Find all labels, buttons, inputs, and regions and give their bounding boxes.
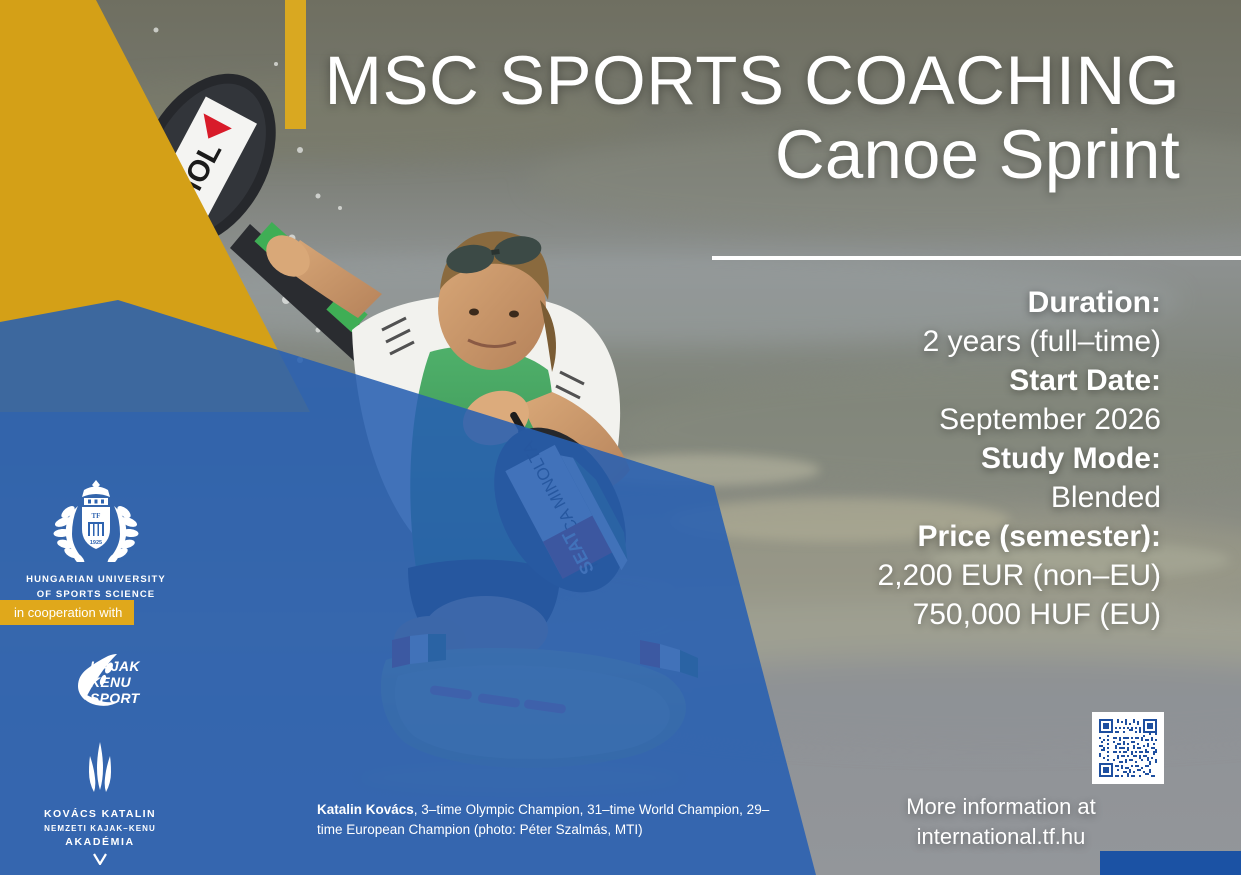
poster: MOL [0, 0, 1241, 875]
university-crest-icon: TF 1925 [40, 478, 152, 562]
title-divider-rule [712, 256, 1241, 260]
academy-line2: NEMZETI KAJAK–KENU [20, 823, 180, 835]
qr-code-icon[interactable] [1095, 715, 1161, 781]
kajak-kenu-sport-name: KAJAK KENU SPORT [90, 658, 140, 707]
detail-value-price-eu: 750,000 HUF (EU) [731, 595, 1161, 634]
academy-line3: AKADÉMIA [20, 835, 180, 851]
university-name-line1: HUNGARIAN UNIVERSITY [26, 574, 166, 585]
more-info-label: More information at [836, 792, 1166, 822]
university-name: HUNGARIAN UNIVERSITY OF SPORTS SCIENCE [18, 573, 174, 602]
academy-line1: KOVÁCS KATALIN [20, 807, 180, 823]
photo-caption: Katalin Kovács, 3–time Olympic Champion,… [317, 800, 787, 839]
university-name-line2: OF SPORTS SCIENCE [37, 589, 155, 600]
detail-value-duration: 2 years (full–time) [731, 322, 1161, 361]
blue-corner-accent [1100, 851, 1241, 875]
more-information: More information at international.tf.hu [836, 792, 1166, 851]
kajak-line2: KENU [90, 674, 140, 690]
more-info-url[interactable]: international.tf.hu [836, 822, 1166, 852]
university-logo: TF 1925 [18, 478, 174, 602]
academy-name: KOVÁCS KATALIN NEMZETI KAJAK–KENU AKADÉM… [20, 807, 180, 851]
programme-details-list: Duration: 2 years (full–time) Start Date… [731, 283, 1161, 634]
detail-label-start-date: Start Date: [731, 361, 1161, 400]
qr-code[interactable] [1092, 712, 1164, 784]
kovacs-katalin-academy-logo: KOVÁCS KATALIN NEMZETI KAJAK–KENU AKADÉM… [20, 742, 180, 870]
detail-label-price: Price (semester): [731, 517, 1161, 556]
title-subtitle-text: Canoe Sprint [300, 116, 1180, 193]
svg-text:TF: TF [92, 512, 101, 520]
academy-flame-icon [77, 742, 123, 800]
cooperation-band: in cooperation with [0, 600, 134, 625]
caption-person-name: Katalin Kovács [317, 802, 414, 817]
detail-value-study-mode: Blended [731, 478, 1161, 517]
kajak-line3: SPORT [90, 690, 140, 706]
crest-year-text: 1925 [90, 540, 102, 546]
title-main-text: MSC SPORTS COACHING [300, 46, 1180, 116]
academy-chevron-icon [93, 853, 107, 865]
detail-value-start-date: September 2026 [731, 400, 1161, 439]
detail-label-study-mode: Study Mode: [731, 439, 1161, 478]
kajak-line1: KAJAK [90, 658, 140, 674]
cooperation-band-label: in cooperation with [14, 605, 122, 620]
detail-label-duration: Duration: [731, 283, 1161, 322]
detail-value-price-non-eu: 2,200 EUR (non–EU) [731, 556, 1161, 595]
page-title: MSC SPORTS COACHING Canoe Sprint [300, 46, 1180, 194]
